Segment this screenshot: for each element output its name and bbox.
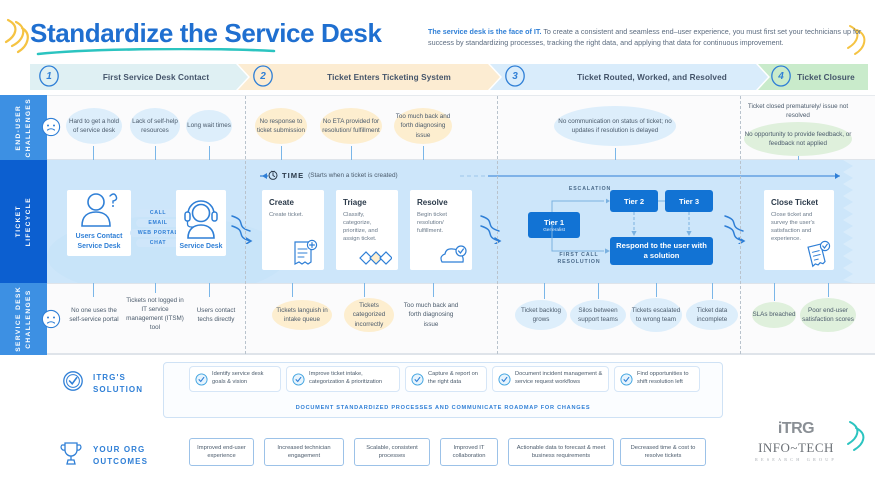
channel-email-text: EMAIL (148, 220, 167, 226)
sdc-bubble-4-text: Tickets languish in intake queue (272, 306, 332, 324)
check-circle-icon (498, 373, 511, 386)
sdc-bubble-2: Tickets not logged in IT service managem… (124, 292, 186, 336)
sdc-tick-10 (712, 283, 713, 299)
intro-lead: The service desk is the face of IT. (428, 27, 541, 36)
euc-bubble-6-text: Too much back and forth diagnosing issue (394, 112, 452, 139)
sdc-tick-8 (598, 283, 599, 299)
phase-4-number-text: 4 (778, 71, 784, 82)
euc-tick-1 (93, 146, 94, 160)
card-triage-desc: Classify, categorize, prioritize, and as… (343, 211, 391, 243)
lifecycle-card-create: Create Create ticket. (262, 190, 324, 270)
lifecycle-card-resolve: Resolve Begin ticket resolution/ fulfill… (410, 190, 472, 270)
phase-divider-3 (740, 96, 741, 354)
channel-call-text: CALL (150, 210, 166, 216)
brand-subtitle: RESEARCH GROUP (731, 457, 861, 462)
phase-3-label: Ticket Routed, Worked, and Resolved (577, 73, 727, 82)
phase-divider-1 (245, 96, 246, 354)
euc-bubble-5: No ETA provided for resolution/ fulfillm… (320, 108, 382, 144)
sdc-tick-6 (433, 283, 434, 297)
euc-bubble-6: Too much back and forth diagnosing issue (394, 108, 452, 144)
solution-label-text: ITRG'S SOLUTION (93, 373, 143, 394)
channel-chat-text: CHAT (150, 240, 166, 246)
outcome-chip-4-text: Improved IT collaboration (445, 444, 493, 460)
check-circle-icon (195, 373, 208, 386)
euc-bubble-9-text: No opportunity to provide feedback, or f… (744, 130, 852, 148)
sdc-bubble-2-text: Tickets not logged in IT service managem… (124, 296, 186, 333)
persona-desk-label: Service Desk (180, 242, 223, 251)
euc-bubble-8-text: Ticket closed prematurely/ issue not res… (744, 102, 852, 120)
outcome-chip-5: Actionable data to forecast & meet busin… (508, 438, 614, 466)
check-badge-icon (62, 370, 84, 392)
sdc-bubble-10: Ticket data incomplete (686, 300, 738, 330)
euc-bubble-1-text: Hard to get a hold of service desk (66, 117, 122, 135)
outcome-chip-4: Improved IT collaboration (440, 438, 498, 466)
sdc-bubble-11-text: SLAs breached (752, 310, 795, 319)
solution-chip-3-text: Capture & report on the right data (428, 371, 481, 387)
sdc-bubble-5-text: Tickets categorized incorrectly (344, 301, 394, 328)
persona-user-label: Users Contact Service Desk (67, 232, 131, 251)
resolve-check-icon (438, 244, 468, 268)
sdc-tick-9 (656, 283, 657, 297)
solution-chip-4: Document incident management & service r… (492, 366, 609, 392)
trophy-icon (58, 440, 84, 468)
channel-pill-email: EMAIL (136, 219, 180, 227)
phase-2-label: Ticket Enters Ticketing System (327, 73, 451, 82)
euc-bubble-7-text: No communication on status of ticket; no… (554, 117, 676, 135)
phase-1-label: First Service Desk Contact (103, 73, 209, 82)
sdc-tick-5 (364, 283, 365, 297)
sdc-bubble-10-text: Ticket data incomplete (686, 306, 738, 324)
brand-logo: iTRG INFO~TECH RESEARCH GROUP (731, 420, 861, 462)
outcome-chip-2-text: Increased technician engagement (269, 444, 339, 460)
sdc-tick-1 (93, 283, 94, 297)
outcome-chip-5-text: Actionable data to forecast & meet busin… (513, 444, 609, 460)
channel-pill-call: CALL (136, 209, 180, 217)
row-label-ticket-lifecycle: TICKET LIFECYCLE (0, 160, 47, 283)
page-title: Standardize the Service Desk (30, 18, 382, 49)
phase-3-number: 3 (504, 65, 526, 87)
outcome-chip-1-text: Improved end-user experience (194, 444, 249, 460)
sdc-bubble-12: Poor end-user satisfaction scores (800, 298, 856, 332)
phase-2-number-text: 2 (260, 71, 266, 82)
triage-icon (358, 247, 392, 267)
euc-bubble-2: Lack of self-help resources (130, 108, 180, 144)
solution-chip-5-text: Find opportunities to shift resolution l… (637, 371, 694, 387)
sdc-bubble-5: Tickets categorized incorrectly (344, 298, 394, 332)
euc-bubble-2-text: Lack of self-help resources (130, 117, 180, 135)
outcomes-label-text: YOUR ORG OUTCOMES (93, 445, 148, 466)
solution-chip-1-text: Identify service desk goals & vision (212, 371, 275, 387)
outcomes-section-label: YOUR ORG OUTCOMES (93, 444, 148, 467)
brand-name: INFO~TECH (731, 440, 861, 456)
euc-tick-5 (351, 146, 352, 160)
euc-bubble-7: No communication on status of ticket; no… (554, 106, 676, 146)
channel-pill-chat: CHAT (136, 239, 180, 247)
check-circle-icon (620, 373, 633, 386)
solution-chip-1: Identify service desk goals & vision (189, 366, 281, 392)
phase-3-number-text: 3 (512, 71, 518, 82)
row-label-lifecycle-text: TICKET LIFECYCLE (14, 197, 34, 246)
sdc-bubble-7-text: Ticket backlog grows (515, 306, 567, 324)
card-create-desc: Create ticket. (269, 211, 317, 219)
sdc-tick-11 (774, 283, 775, 301)
card-create-title: Create (269, 198, 317, 207)
sdc-tick-4 (292, 283, 293, 297)
time-axis-line (256, 170, 856, 182)
euc-bubble-5-text: No ETA provided for resolution/ fulfillm… (320, 117, 382, 135)
euc-bubble-3-text: Long wait times (187, 121, 231, 130)
sdc-bubble-4: Tickets languish in intake queue (272, 300, 332, 330)
outcome-chip-3-text: Scalable, consistent processes (359, 444, 425, 460)
sdc-bubble-11: SLAs breached (752, 302, 796, 328)
sdc-bubble-1: No one uses the self-service portal (66, 298, 122, 332)
user-question-icon (76, 190, 122, 230)
sdc-bubble-7: Ticket backlog grows (515, 300, 567, 330)
end-user-face-icon (40, 116, 62, 138)
euc-tick-6 (423, 146, 424, 160)
persona-users-contact-service-desk: Users Contact Service Desk (67, 190, 131, 256)
sdc-bubble-3: Users contact techs directly (190, 300, 242, 330)
outcome-chip-2: Increased technician engagement (264, 438, 344, 466)
phase-1: First Service Desk Contact (30, 64, 248, 90)
solution-chip-3: Capture & report on the right data (405, 366, 487, 392)
phase-4-label: Ticket Closure (797, 73, 855, 82)
sdc-bubble-8-text: Silos between support teams (570, 306, 626, 324)
sdc-bubble-6: Too much back and forth diagnosing issue (402, 298, 460, 332)
outcome-chip-6: Decreased time & cost to resolve tickets (620, 438, 706, 466)
sdc-tick-12 (828, 283, 829, 297)
sdc-bubble-9: Tickets escalated to wrong team (630, 298, 682, 332)
euc-bubble-4: No response to ticket submission (255, 108, 307, 144)
sdc-bubble-8: Silos between support teams (570, 300, 626, 330)
channel-web-portal-text: WEB PORTAL (138, 230, 178, 236)
headset-agent-icon (179, 198, 223, 240)
sdc-tick-7 (544, 283, 545, 299)
card-triage-title: Triage (343, 198, 391, 207)
solution-chip-4-text: Document incident management & service r… (515, 371, 603, 387)
intro-paragraph: The service desk is the face of IT. To c… (428, 26, 868, 48)
euc-bubble-8: Ticket closed prematurely/ issue not res… (744, 100, 852, 122)
card-close-title: Close Ticket (771, 198, 827, 207)
outcome-chip-6-text: Decreased time & cost to resolve tickets (625, 444, 701, 460)
infographic-canvas: Standardize the Service Desk The service… (0, 0, 875, 492)
euc-tick-7 (615, 148, 616, 160)
title-underline-swoosh (36, 48, 276, 56)
phase-2-number: 2 (252, 65, 274, 87)
phase-divider-2 (497, 96, 498, 354)
sdc-tick-2 (155, 283, 156, 293)
phase-2: Ticket Enters Ticketing System (238, 64, 500, 90)
euc-bubble-1: Hard to get a hold of service desk (66, 108, 122, 144)
brand-mark: iTRG (731, 420, 861, 438)
solution-chip-2: Improve ticket intake, categorization & … (286, 366, 400, 392)
card-close-desc: Close ticket and survey the user's satis… (771, 211, 827, 243)
lifecycle-card-triage: Triage Classify, categorize, prioritize,… (336, 190, 398, 270)
solution-chip-2-text: Improve ticket intake, categorization & … (309, 371, 394, 387)
solution-chip-5: Find opportunities to shift resolution l… (614, 366, 700, 392)
sdc-bubble-3-text: Users contact techs directly (190, 306, 242, 324)
solution-caption: DOCUMENT STANDARDIZED PROCESSES AND COMM… (163, 405, 723, 411)
euc-bubble-9: No opportunity to provide feedback, or f… (744, 122, 852, 156)
check-circle-icon (411, 373, 424, 386)
row-label-service-desk-text: SERVICE DESK CHALLENGES (14, 286, 34, 352)
sdc-bubble-9-text: Tickets escalated to wrong team (630, 306, 682, 324)
tier-flow-connectors (524, 186, 724, 272)
close-ticket-icon (804, 240, 832, 268)
phase-1-number: 1 (38, 65, 60, 87)
ticket-create-icon (290, 239, 320, 267)
outcome-chip-1: Improved end-user experience (189, 438, 254, 466)
solution-section-label: ITRG'S SOLUTION (93, 372, 143, 395)
sdc-bubble-12-text: Poor end-user satisfaction scores (800, 306, 856, 324)
service-desk-face-icon (40, 308, 62, 330)
sdc-tick-3 (209, 283, 210, 297)
row-label-end-user-text: END-USER CHALLENGES (14, 98, 34, 157)
sdc-bubble-1-text: No one uses the self-service portal (66, 306, 122, 324)
euc-tick-3 (209, 146, 210, 160)
phase-4-number: 4 (770, 65, 792, 87)
card-resolve-title: Resolve (417, 198, 465, 207)
euc-bubble-4-text: No response to ticket submission (255, 117, 307, 135)
phase-3: Ticket Routed, Worked, and Resolved (490, 64, 768, 90)
euc-tick-2 (155, 146, 156, 160)
persona-service-desk: Service Desk (176, 190, 226, 256)
card-resolve-desc: Begin ticket resolution/ fulfillment. (417, 211, 465, 235)
lifecycle-card-close-ticket: Close Ticket Close ticket and survey the… (764, 190, 834, 270)
euc-bubble-3: Long wait times (186, 110, 232, 142)
phase-band: First Service Desk Contact 1 Ticket Ente… (30, 64, 868, 90)
check-circle-icon (292, 373, 305, 386)
phase-1-number-text: 1 (46, 71, 52, 82)
sdc-bubble-6-text: Too much back and forth diagnosing issue (402, 301, 460, 328)
outcome-chip-3: Scalable, consistent processes (354, 438, 430, 466)
euc-tick-4 (281, 146, 282, 160)
